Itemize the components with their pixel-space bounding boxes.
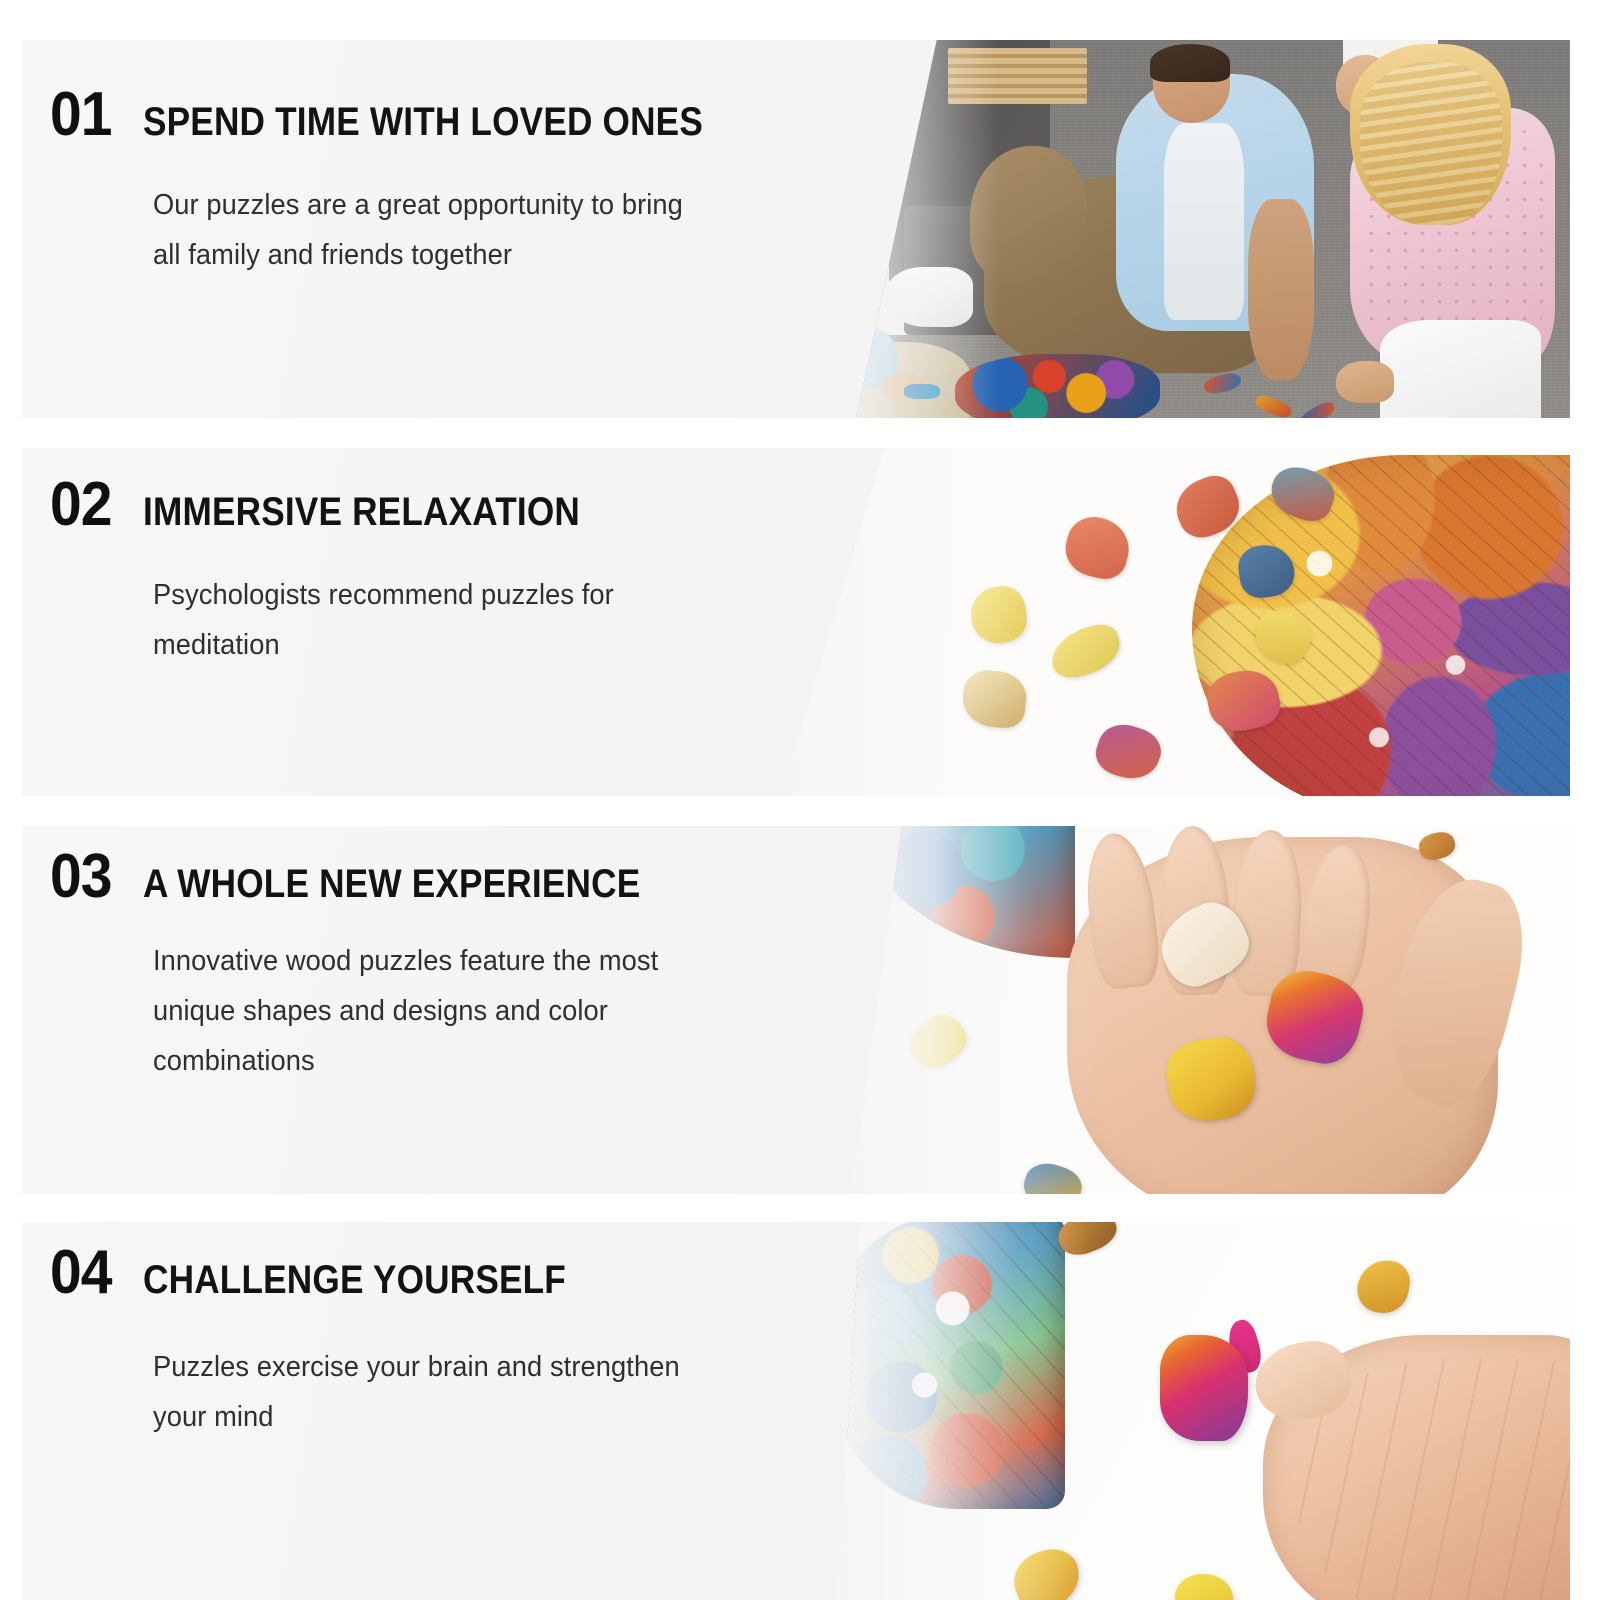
woman-hair [1350,44,1511,225]
man-knee [970,146,1087,282]
feature-text-01: 01 SPEND TIME WITH LOVED ONES Our puzzle… [32,40,852,418]
assembled-puzzle [838,1222,1065,1509]
puzzle-piece-leaf [1175,1574,1234,1600]
feature-body-02: Psychologists recommend puzzles for medi… [153,571,813,671]
feature-number-04: 04 [50,1244,112,1303]
man-sneaker [886,267,974,327]
feature-body-line: combinations [153,1037,773,1087]
feature-card-01: 01 SPEND TIME WITH LOVED ONES Our puzzle… [22,40,1570,418]
feature-body-line: unique shapes and designs and color [153,987,773,1037]
assembled-puzzle [1192,455,1570,796]
feature-image-01 [838,40,1570,418]
man-hair [1150,44,1231,82]
woman-trousers [1380,320,1541,418]
feature-title-03: A WHOLE NEW EXPERIENCE [143,863,640,905]
puzzle-piece-dolphin [1007,1542,1087,1600]
feature-image-03 [852,826,1570,1194]
feature-heading-row-01: 01 SPEND TIME WITH LOVED ONES [50,40,852,145]
feature-heading-row-02: 02 IMMERSIVE RELAXATION [50,448,852,535]
feature-body-03: Innovative wood puzzles feature the most… [153,937,813,1087]
feature-card-02: 02 IMMERSIVE RELAXATION Psychologists re… [22,448,1570,796]
feature-body-line: Our puzzles are a great opportunity to b… [153,181,773,231]
feature-number-01: 01 [50,86,112,145]
feature-body-line: Puzzles exercise your brain and strength… [153,1343,773,1393]
wooden-pallet [948,48,1087,105]
feature-number-02: 02 [50,476,112,535]
puzzle-piece-dinosaur [1091,718,1167,787]
feature-text-02: 02 IMMERSIVE RELAXATION Psychologists re… [32,448,852,796]
feature-body-line: meditation [153,621,773,671]
feature-number-03: 03 [50,848,112,907]
puzzle-piece-zebra [960,668,1029,730]
puzzle-piece-cat [1160,1335,1248,1441]
feature-body-01: Our puzzles are a great opportunity to b… [153,181,813,281]
feature-text-03: 03 A WHOLE NEW EXPERIENCE Innovative woo… [32,826,852,1194]
man-arm [1248,199,1314,380]
feature-body-line: Innovative wood puzzles feature the most [153,937,773,987]
feature-body-04: Puzzles exercise your brain and strength… [153,1343,813,1443]
feature-body-line: Psychologists recommend puzzles for [153,571,773,621]
feature-body-line: all family and friends together [153,231,773,281]
feature-card-04: 04 CHALLENGE YOURSELF Puzzles exercise y… [22,1222,1570,1600]
puzzle-piece [904,384,941,399]
feature-list-page: 01 SPEND TIME WITH LOVED ONES Our puzzle… [0,0,1600,1600]
feature-heading-row-04: 04 CHALLENGE YOURSELF [50,1222,852,1303]
living-room-scene [838,40,1570,418]
assembled-puzzle [859,826,1074,958]
puzzle-piece [1019,1157,1087,1194]
puzzle-piece-animal [1059,511,1134,584]
puzzle-piece-leaf [902,1007,975,1075]
woman-hand [1336,361,1395,403]
man-tshirt [1164,123,1245,320]
puzzle-piece-leaf [1354,1256,1414,1317]
feature-image-04 [838,1222,1570,1600]
feature-title-02: IMMERSIVE RELAXATION [143,491,580,533]
feature-image-02 [782,448,1570,796]
feature-card-03: 03 A WHOLE NEW EXPERIENCE Innovative woo… [22,826,1570,1194]
feature-title-01: SPEND TIME WITH LOVED ONES [143,101,703,143]
feature-heading-row-03: 03 A WHOLE NEW EXPERIENCE [50,826,852,907]
feature-text-04: 04 CHALLENGE YOURSELF Puzzles exercise y… [32,1222,852,1600]
feature-title-04: CHALLENGE YOURSELF [143,1259,566,1301]
puzzle-piece-leaf [1045,619,1126,684]
puzzle-piece-crown [967,583,1031,647]
feature-body-line: your mind [153,1393,773,1443]
assembled-puzzle [955,354,1160,418]
